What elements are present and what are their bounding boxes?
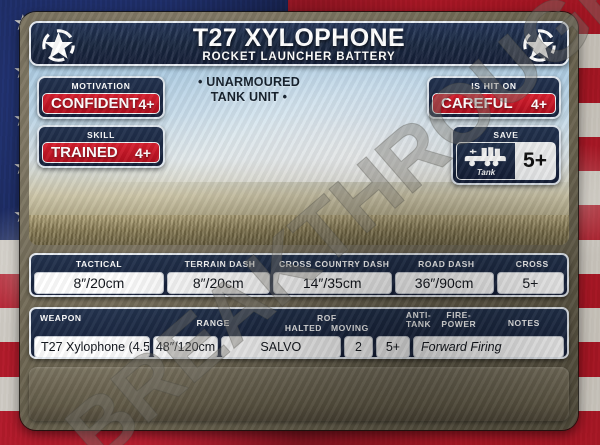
cell-rof: SALVO (221, 336, 341, 358)
weapon-table: WEAPON RANGE ROF HALTED MOVING ANTI- TAN… (29, 307, 569, 359)
weapon-table-row: T27 Xylophone (4.5-inch) 48″/120cm SALVO… (31, 336, 567, 359)
cell-tactical: 8″/20cm (34, 272, 164, 294)
motivation-rating: 4+ (139, 96, 155, 112)
movement-table-row: 8″/20cm 8″/20cm 14″/35cm 36″/90cm 5+ (31, 272, 567, 297)
page-subtitle: ROCKET LAUNCHER BATTERY (31, 51, 567, 63)
is-hit-on-rating: 4+ (531, 96, 547, 112)
skill-value: TRAINED (51, 144, 118, 161)
cell-cross-country: 14″/35cm (273, 272, 392, 294)
col-header-cross-country: CROSS COUNTRY DASH (273, 255, 395, 272)
stat-pod-save: SAVE Tank 5+ (451, 125, 561, 185)
movement-table-header: TACTICAL TERRAIN DASH CROSS COUNTRY DASH… (31, 255, 567, 272)
firepower-line2: POWER (438, 320, 480, 329)
save-icon-label: Tank (477, 168, 495, 177)
weapon-table-header: WEAPON RANGE ROF HALTED MOVING ANTI- TAN… (31, 309, 567, 336)
col-header-range: RANGE (173, 309, 253, 336)
motivation-label: MOTIVATION (39, 78, 163, 93)
stat-pod-skill: SKILL TRAINED 4+ (37, 125, 165, 168)
card-header: T27 XYLOPHONE ROCKET LAUNCHER BATTERY (29, 21, 569, 66)
ground-base (29, 215, 569, 245)
col-header-rof-moving: MOVING (331, 323, 369, 333)
cell-cross: 5+ (497, 272, 564, 294)
anti-tank-line2: TANK (401, 320, 436, 329)
cell-notes: Forward Firing (413, 336, 564, 358)
col-header-notes: NOTES (481, 309, 567, 336)
cell-weapon: T27 Xylophone (4.5-inch) (34, 336, 150, 358)
skill-value-badge: TRAINED 4+ (42, 142, 160, 163)
tank-icon: Tank (457, 143, 515, 179)
col-header-firepower: FIRE- POWER (437, 309, 481, 336)
col-header-weapon: WEAPON (31, 309, 173, 336)
page-title: T27 XYLOPHONE (31, 24, 567, 53)
col-header-rof-title: ROF (317, 313, 337, 323)
unit-card: T27 XYLOPHONE ROCKET LAUNCHER BATTERY • … (20, 12, 578, 430)
us-allied-star-icon (522, 28, 557, 63)
col-header-rof-halted: HALTED (285, 323, 322, 333)
is-hit-on-value-badge: CAREFUL 4+ (432, 93, 556, 114)
cell-road-dash: 36″/90cm (395, 272, 494, 294)
cell-anti-tank: 2 (344, 336, 373, 358)
save-label: SAVE (453, 127, 559, 142)
cell-range: 48″/120cm (153, 336, 217, 358)
col-header-cross: CROSS (498, 255, 567, 272)
skill-rating: 4+ (135, 145, 151, 161)
unit-tags: • UNARMOURED TANK UNIT • (179, 75, 319, 106)
save-value-row: Tank 5+ (456, 142, 556, 180)
col-header-terrain-dash: TERRAIN DASH (167, 255, 273, 272)
movement-table: TACTICAL TERRAIN DASH CROSS COUNTRY DASH… (29, 253, 569, 297)
is-hit-on-value: CAREFUL (441, 95, 513, 112)
col-header-rof: ROF HALTED MOVING (253, 309, 400, 336)
save-value: 5+ (515, 143, 555, 179)
motivation-value: CONFIDENT (51, 95, 139, 112)
is-hit-on-label: IS HIT ON (429, 78, 559, 93)
col-header-road-dash: ROAD DASH (395, 255, 497, 272)
stat-pod-is-hit-on: IS HIT ON CAREFUL 4+ (427, 76, 561, 119)
stat-pod-motivation: MOTIVATION CONFIDENT 4+ (37, 76, 165, 119)
motivation-value-badge: CONFIDENT 4+ (42, 93, 160, 114)
skill-label: SKILL (39, 127, 163, 142)
cell-firepower: 5+ (376, 336, 410, 358)
col-header-tactical: TACTICAL (31, 255, 167, 272)
footer-plate (29, 367, 569, 421)
col-header-anti-tank: ANTI- TANK (400, 309, 437, 336)
cell-terrain-dash: 8″/20cm (167, 272, 270, 294)
